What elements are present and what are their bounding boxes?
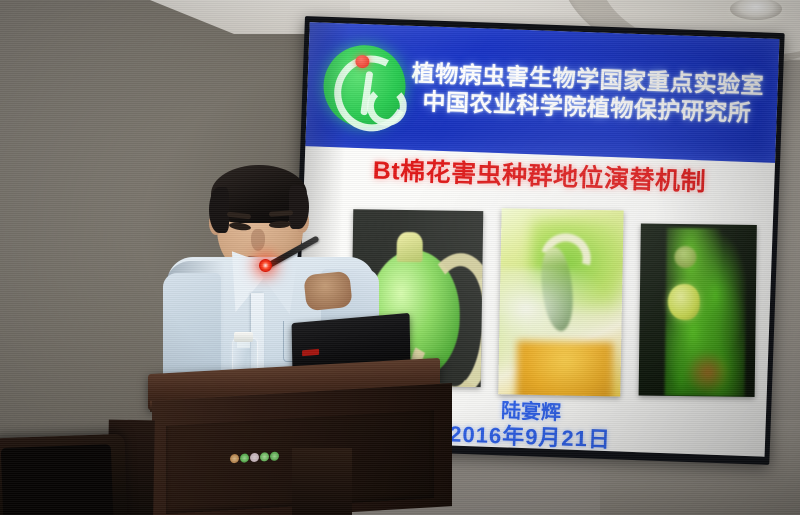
nose: [251, 229, 265, 251]
insect-primary: [668, 284, 700, 320]
emblem-dot-2: [240, 453, 249, 463]
boll-tip: [397, 232, 423, 262]
brown-soil-blur: [685, 350, 732, 395]
photo-scene: 植物病虫害生物学国家重点实验室 中国农业科学院植物保护研究所 Bt棉花害虫种群地…: [0, 0, 800, 515]
hand-holding-pointer: [303, 271, 353, 312]
photo-insect-on-dark-foliage: [639, 223, 757, 397]
laser-beam-dot-icon: [259, 259, 272, 272]
laptop-logo-icon: [302, 349, 319, 356]
hair-side-right: [289, 185, 309, 229]
photo-larva-closeup-overexposed: [498, 208, 623, 396]
water-bottle-cap: [234, 332, 253, 342]
emblem-dot-5: [270, 451, 279, 461]
hair-side-left: [209, 187, 229, 233]
slide-header-text: 植物病虫害生物学国家重点实验室 中国农业科学院植物保护研究所: [405, 60, 779, 128]
podium-shadow-right: [292, 448, 352, 515]
emblem-dot-4: [260, 452, 269, 462]
emblem-dot-1: [230, 453, 239, 463]
chair-backrest: [1, 444, 114, 515]
orange-blur-bottom: [516, 341, 613, 397]
emblem-dot-3: [250, 452, 259, 462]
water-bottle-neck: [237, 341, 250, 348]
foreground-chair: [0, 434, 128, 515]
logo-bowl: [366, 85, 407, 126]
institute-logo-icon: [322, 44, 407, 129]
slide-header-band: 植物病虫害生物学国家重点实验室 中国农业科学院植物保护研究所: [305, 22, 779, 163]
